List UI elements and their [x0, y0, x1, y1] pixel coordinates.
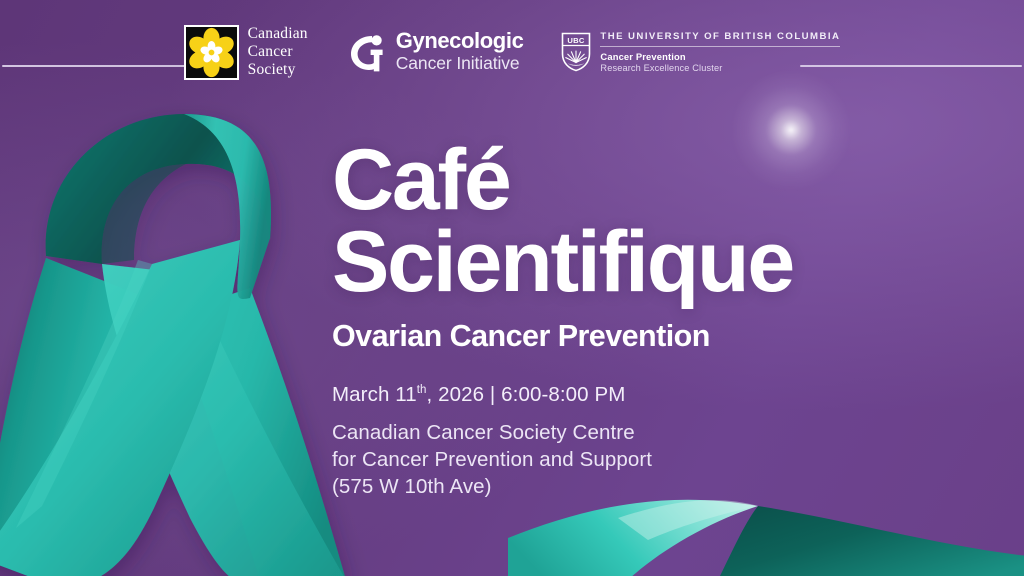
- ccs-line-2: Cancer: [248, 43, 308, 61]
- ubc-shield-icon: UBC: [561, 32, 591, 72]
- ccs-line-3: Society: [248, 61, 308, 79]
- ubc-unit: Cancer Prevention: [600, 51, 840, 62]
- event-date-monthday: March 11: [332, 383, 417, 406]
- ubc-institution: THE UNIVERSITY OF BRITISH COLUMBIA: [600, 31, 840, 42]
- venue-line-2: for Cancer Prevention and Support: [332, 446, 972, 473]
- event-date-ordinal: th: [417, 385, 427, 397]
- ccs-wordmark: Canadian Cancer Society: [248, 25, 308, 79]
- gci-g-mark-icon: [348, 31, 388, 73]
- title-line-2: Scientifique: [332, 222, 972, 304]
- event-details: March 11th, 2026 | 6:00-8:00 PM Canadian…: [332, 383, 972, 500]
- logo-gynecologic-cancer-initiative: Gynecologic Cancer Initiative: [348, 30, 524, 73]
- svg-text:UBC: UBC: [568, 36, 586, 45]
- event-poster: Canadian Cancer Society Gynecologic Canc…: [0, 0, 1024, 576]
- event-subtitle: Ovarian Cancer Prevention: [332, 319, 972, 354]
- event-date-rest: , 2026 | 6:00-8:00 PM: [427, 383, 626, 406]
- event-venue: Canadian Cancer Society Centre for Cance…: [332, 419, 972, 500]
- daffodil-icon: [184, 25, 239, 80]
- logo-ubc-cancer-prevention: UBC THE UNIVERSITY OF BRITISH COLUMBIA: [561, 31, 840, 73]
- ubc-divider: [600, 46, 840, 47]
- gci-wordmark: Gynecologic Cancer Initiative: [396, 30, 524, 73]
- header-rule-left: [2, 65, 202, 67]
- logo-canadian-cancer-society: Canadian Cancer Society: [184, 25, 308, 80]
- ccs-line-1: Canadian: [248, 25, 308, 43]
- event-datetime: March 11th, 2026 | 6:00-8:00 PM: [332, 383, 972, 407]
- page-title: Café Scientifique: [332, 140, 972, 303]
- venue-line-1: Canadian Cancer Society Centre: [332, 419, 972, 446]
- gci-tagline: Cancer Initiative: [396, 54, 524, 74]
- event-content: Café Scientifique Ovarian Cancer Prevent…: [332, 140, 972, 501]
- partner-logo-header: Canadian Cancer Society Gynecologic Canc…: [0, 0, 1024, 104]
- header-rule-right: [800, 65, 1022, 67]
- gci-name: Gynecologic: [396, 30, 524, 52]
- venue-line-3: (575 W 10th Ave): [332, 473, 972, 500]
